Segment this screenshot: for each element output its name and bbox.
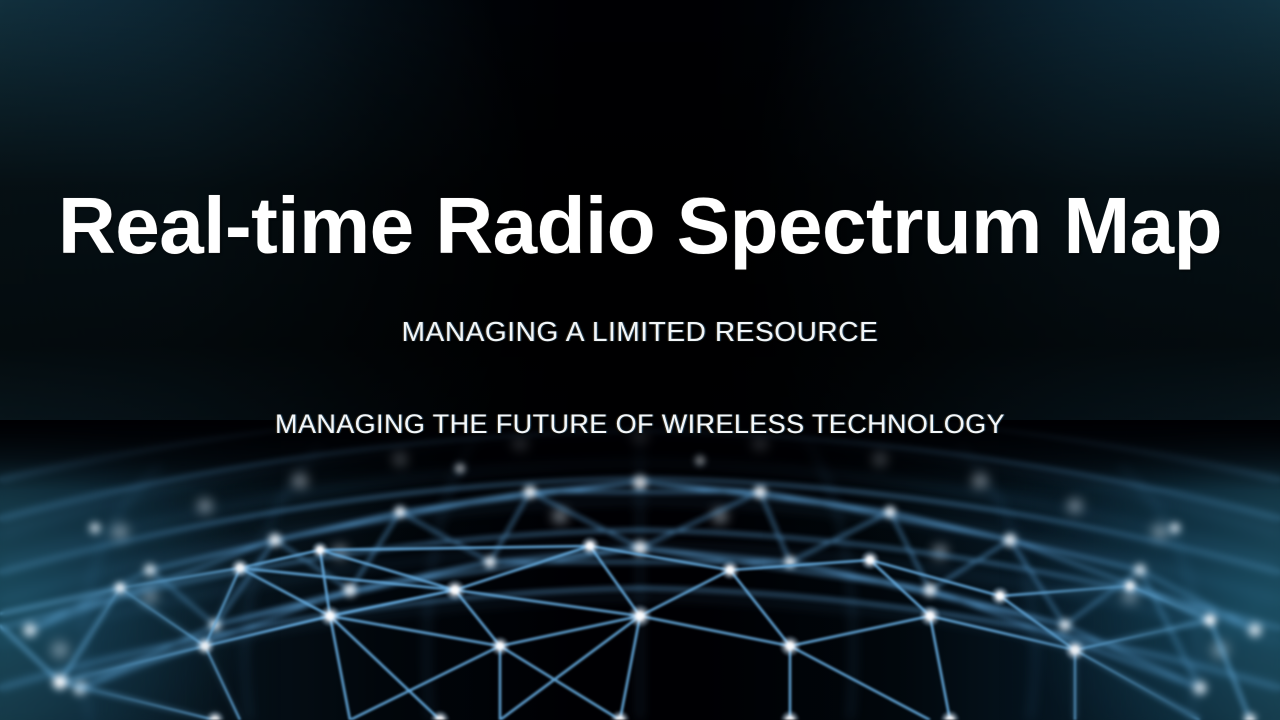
subtitle: MANAGING A LIMITED RESOURCE — [0, 316, 1280, 348]
network-globe-graphic — [0, 420, 1280, 720]
network-globe-near-layer — [0, 420, 1280, 720]
page-title: Real-time Radio Spectrum Map — [0, 186, 1280, 266]
title-slide: Real-time Radio Spectrum Map MANAGING A … — [0, 0, 1280, 720]
tagline: MANAGING THE FUTURE OF WIRELESS TECHNOLO… — [0, 409, 1280, 440]
